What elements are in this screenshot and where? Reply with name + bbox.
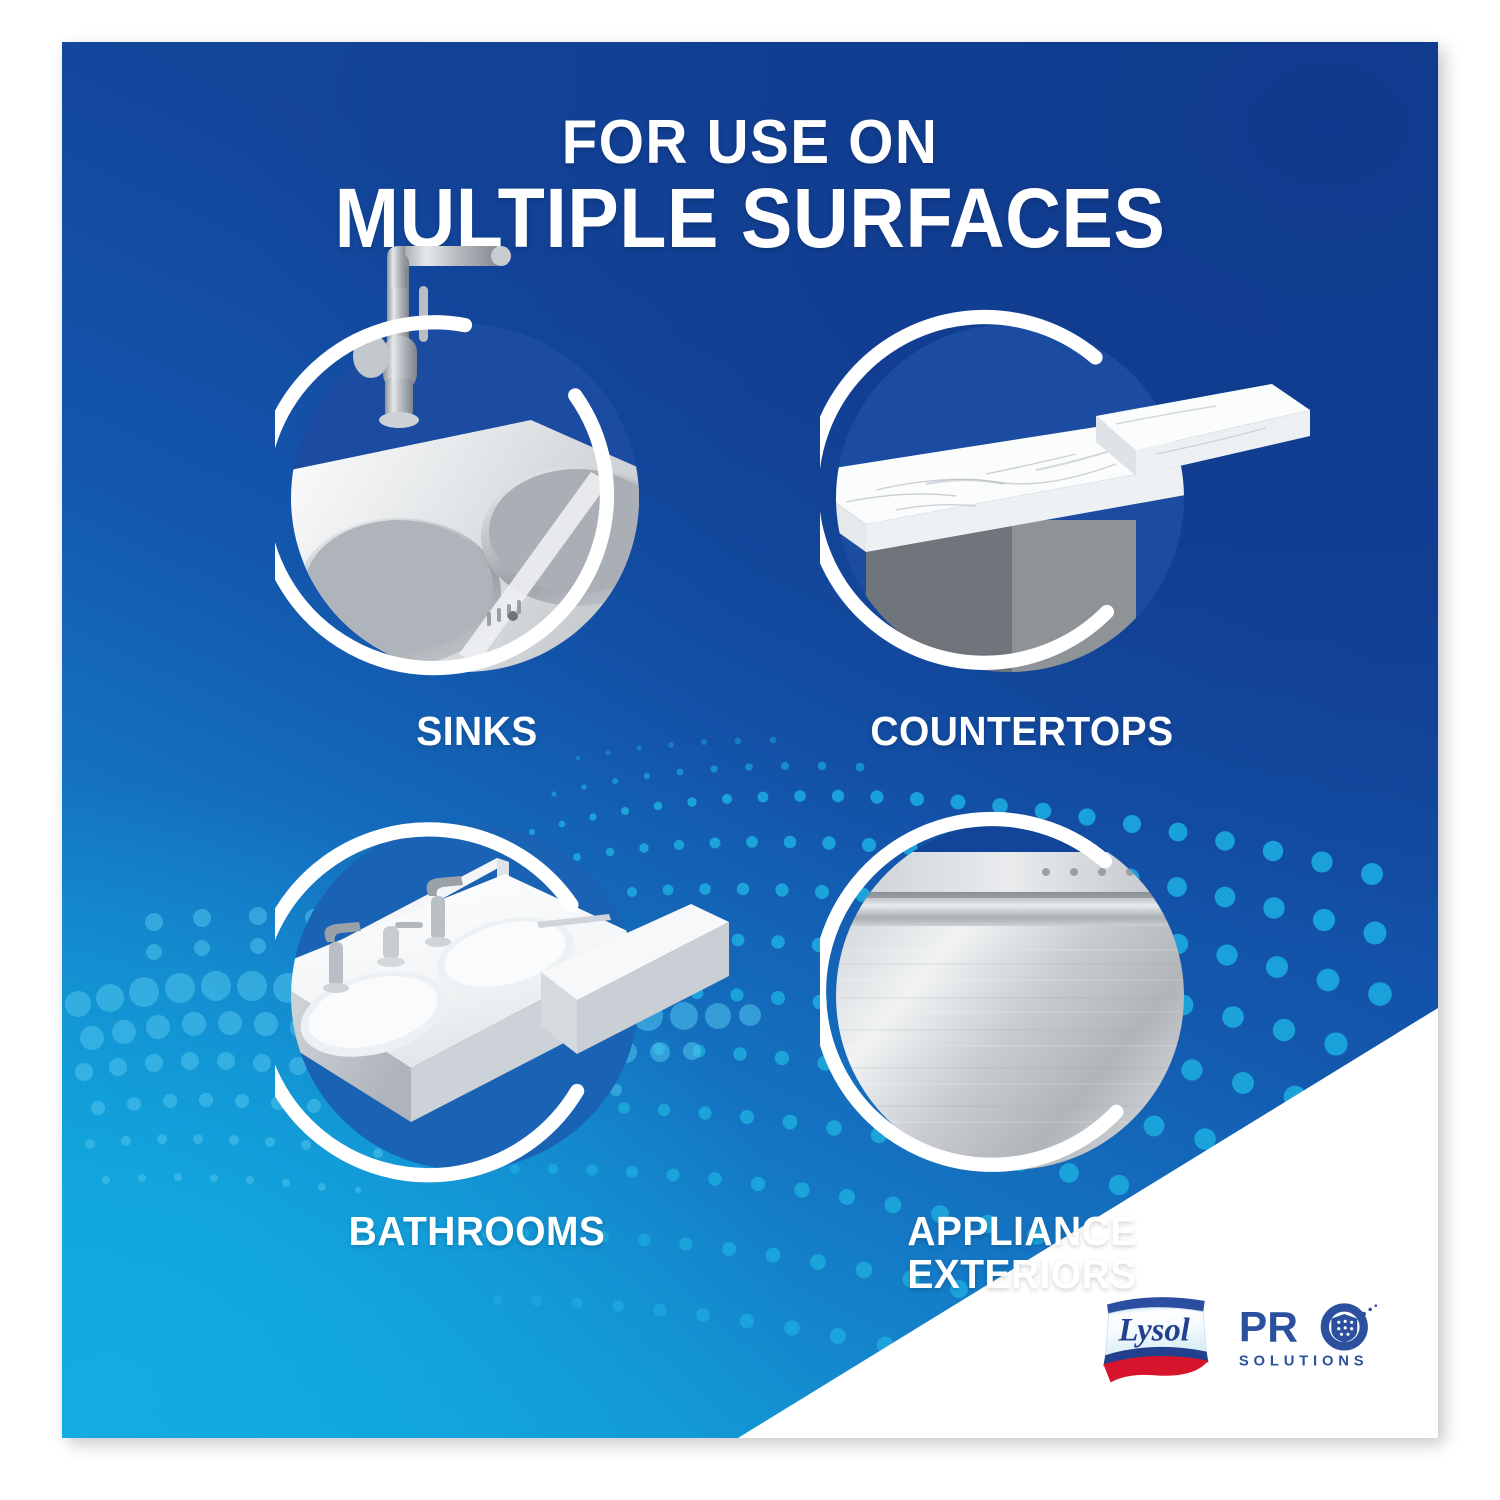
surface-item-sinks: SINKS bbox=[267, 312, 687, 684]
headline-line-1: FOR USE ON bbox=[103, 114, 1396, 173]
solutions-wordmark: SOLUTIONS bbox=[1239, 1354, 1369, 1370]
surface-item-caption: SINKS bbox=[278, 710, 677, 753]
surface-item-caption: APPLIANCE EXTERIORS bbox=[823, 1210, 1222, 1297]
brand-logo-lockup: Lysol PR bbox=[1096, 1290, 1386, 1386]
surface-item-countertops: COUNTERTOPS bbox=[812, 312, 1232, 684]
surface-item-appliances: APPLIANCE EXTERIORS bbox=[812, 810, 1232, 1182]
surface-item-media bbox=[812, 312, 1232, 684]
surface-item-caption: COUNTERTOPS bbox=[823, 710, 1222, 753]
stainless-dishwasher-photo bbox=[836, 822, 1184, 1170]
caption-line-1: APPLIANCE bbox=[823, 1210, 1222, 1253]
marble-countertop-photo bbox=[836, 324, 1184, 672]
page-title: FOR USE ON MULTIPLE SURFACES bbox=[62, 114, 1438, 259]
kitchen-sink-faucet-photo bbox=[291, 324, 639, 672]
surface-item-media bbox=[267, 810, 687, 1182]
surface-item-bathrooms: BATHROOMS bbox=[267, 810, 687, 1182]
pro-wordmark: PR bbox=[1239, 1304, 1298, 1352]
headline-line-2: MULTIPLE SURFACES bbox=[117, 179, 1383, 259]
surface-item-caption: BATHROOMS bbox=[278, 1210, 677, 1253]
screenshot-canvas: FOR USE ON MULTIPLE SURFACES bbox=[0, 0, 1500, 1500]
lysol-wordmark: Lysol bbox=[1117, 1313, 1190, 1349]
lysol-logo: Lysol bbox=[1096, 1290, 1214, 1386]
surface-item-media bbox=[812, 810, 1232, 1182]
photo-clip bbox=[836, 822, 1184, 1170]
marketing-poster: FOR USE ON MULTIPLE SURFACES bbox=[62, 42, 1438, 1438]
surface-item-media bbox=[267, 312, 687, 684]
bathroom-double-vanity-photo bbox=[291, 822, 639, 1170]
pro-solutions-logo: PR SOLUTIONS bbox=[1236, 1301, 1386, 1375]
